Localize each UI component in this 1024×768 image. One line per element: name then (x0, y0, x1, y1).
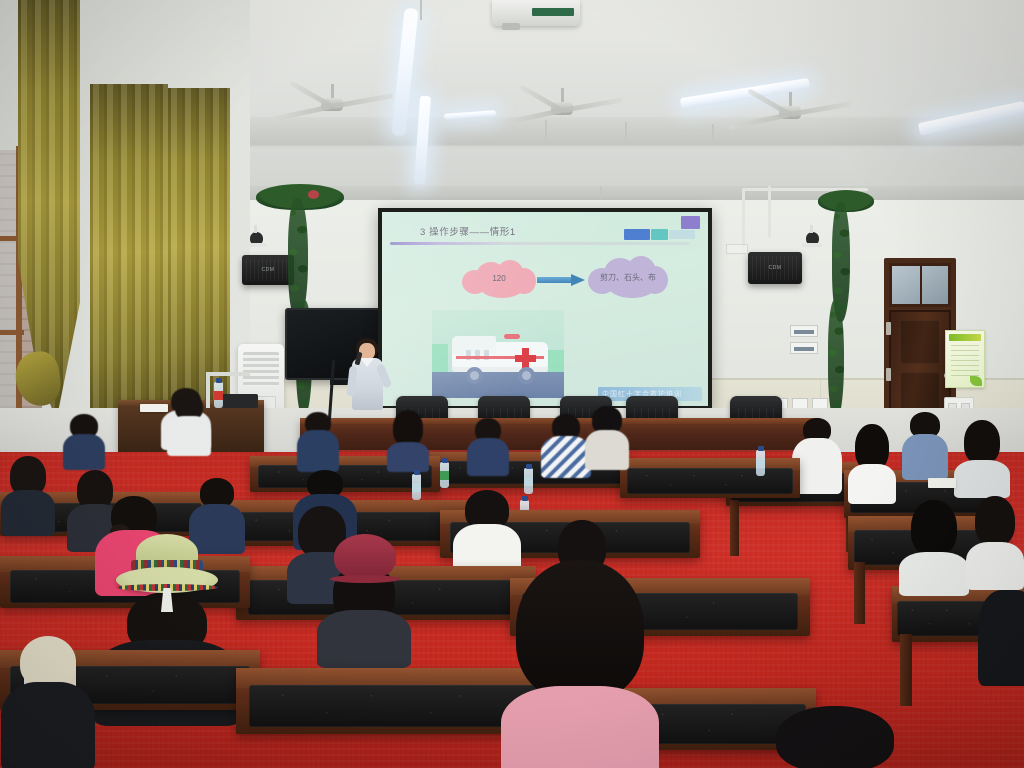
bench-leg (730, 500, 739, 556)
wall-speaker-left: CDM (242, 255, 294, 285)
security-camera-icon (250, 232, 263, 245)
slide-arrow-icon (537, 274, 585, 284)
handout-paper (928, 478, 956, 488)
wall-speaker-right: CDM (748, 252, 802, 284)
wall-conduit (768, 186, 771, 238)
presenter (348, 338, 388, 422)
monitor-arm (206, 372, 250, 376)
maroon-cap (334, 534, 396, 580)
slide-cloud-right-text: 剪刀、石头、布 (600, 273, 656, 283)
attendee (900, 412, 950, 478)
bench-leg (854, 562, 865, 624)
slide-cloud-left-text: 120 (492, 274, 505, 284)
wall-conduit (742, 190, 745, 252)
attendee (898, 500, 970, 590)
attendee (978, 590, 1024, 686)
wall-notice-board (726, 244, 748, 254)
ivy-vine (828, 300, 844, 420)
water-bottle (440, 462, 449, 488)
door-hinge (886, 322, 891, 335)
security-camera-icon (806, 232, 819, 245)
attendee (386, 410, 430, 468)
water-bottle (412, 474, 421, 500)
lecture-hall-photo: CDM CDM (0, 0, 1024, 768)
attendee (584, 406, 630, 466)
speaker-brand-label: CDM (262, 267, 275, 273)
bench-leg (900, 634, 912, 706)
ceiling-hanger (625, 122, 627, 138)
slide-title-underline (390, 242, 690, 245)
attendee (770, 706, 900, 768)
ceiling-projector (492, 0, 580, 26)
bench-desk (620, 458, 800, 498)
attendee-maroon-cap (316, 534, 412, 654)
ceiling-hanger (600, 186, 602, 200)
attendee (0, 636, 96, 768)
water-bottle (756, 450, 765, 476)
embroidered-bucket-hat (116, 534, 218, 594)
speaker-brand-label: CDM (769, 265, 782, 271)
window-frame (0, 330, 24, 335)
slide-ambulance-graphic (432, 310, 564, 398)
slide-title: 3 操作步骤——情形1 (420, 224, 516, 238)
window-curtain (168, 88, 230, 420)
water-bottle (214, 382, 223, 408)
attendee (466, 418, 510, 472)
attendee (62, 414, 106, 466)
safety-notice-poster (945, 330, 985, 388)
attendee (296, 412, 340, 468)
ceiling-hanger (545, 120, 547, 138)
attendee (0, 456, 56, 532)
water-bottle (524, 468, 533, 494)
door-hinge (886, 368, 891, 381)
window-curtain (90, 84, 168, 434)
slide-corner-decoration (624, 216, 702, 242)
door-transom-window (889, 263, 951, 307)
attendee (952, 420, 1012, 494)
slide-cloud-left: 120 (462, 260, 536, 298)
ambulance-icon (452, 332, 548, 378)
attendee-long-hair (500, 560, 660, 768)
ivy-flower (308, 190, 319, 199)
slide-cloud-right: 剪刀、石头、布 (588, 256, 668, 300)
desk-equipment (222, 394, 258, 408)
projection-screen: 3 操作步骤——情形1 120 (382, 212, 708, 406)
attendee (966, 496, 1024, 588)
ceiling-hanger (712, 124, 714, 140)
attendee (166, 394, 212, 452)
wall-notice-board (790, 342, 818, 354)
ceiling-hanger (420, 0, 422, 20)
attendee (846, 424, 898, 494)
wall-notice-board (790, 325, 818, 337)
